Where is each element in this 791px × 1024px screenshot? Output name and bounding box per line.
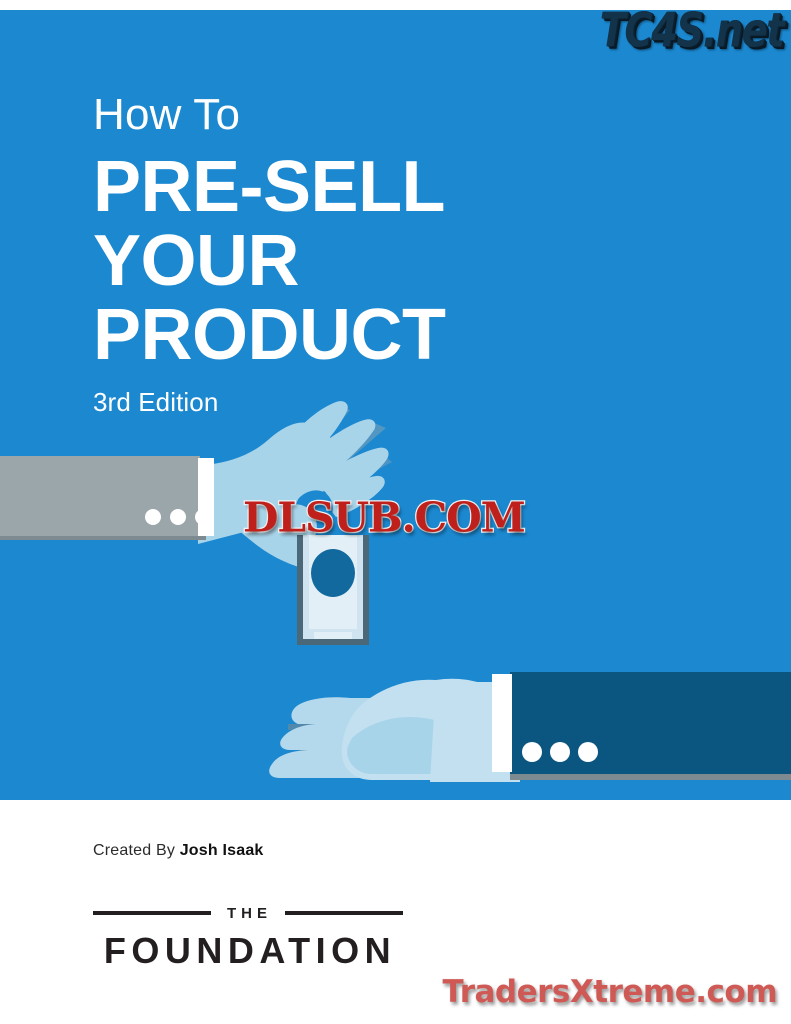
- logo-rule-right: [285, 911, 403, 915]
- edition-label: 3rd Edition: [93, 386, 653, 418]
- upper-cuff-buttons: [145, 509, 211, 525]
- title-line-pre-sell: PRE-SELL: [93, 146, 653, 228]
- logo-top-row: THE: [93, 906, 403, 920]
- credit-line: Created By Josh Isaak: [93, 842, 264, 860]
- lower-cuff-buttons: [522, 742, 598, 762]
- credit-prefix: Created By: [93, 842, 180, 859]
- title-line-your: YOUR: [93, 220, 653, 302]
- title-line-product: PRODUCT: [93, 294, 653, 376]
- title-line-how-to: How To: [93, 88, 653, 142]
- lower-arm-sleeve: [510, 672, 791, 774]
- lower-hand-group: [269, 672, 791, 782]
- logo-foundation-word: FOUNDATION: [93, 930, 403, 972]
- the-foundation-logo: THE FOUNDATION: [93, 906, 403, 972]
- cover-hero-panel: How To PRE-SELL YOUR PRODUCT 3rd Edition…: [0, 10, 791, 800]
- banknote-seal: [311, 549, 355, 597]
- book-cover: How To PRE-SELL YOUR PRODUCT 3rd Edition…: [0, 0, 791, 1024]
- banknote: [297, 535, 369, 645]
- cover-footer: Created By Josh Isaak THE FOUNDATION: [0, 800, 791, 1024]
- cover-title-block: How To PRE-SELL YOUR PRODUCT 3rd Edition: [93, 88, 653, 418]
- logo-the-word: THE: [224, 905, 272, 922]
- credit-author: Josh Isaak: [180, 842, 264, 859]
- logo-rule-left: [93, 911, 211, 915]
- upper-arm-sleeve: [0, 456, 200, 536]
- lower-arm-cuff: [492, 674, 512, 772]
